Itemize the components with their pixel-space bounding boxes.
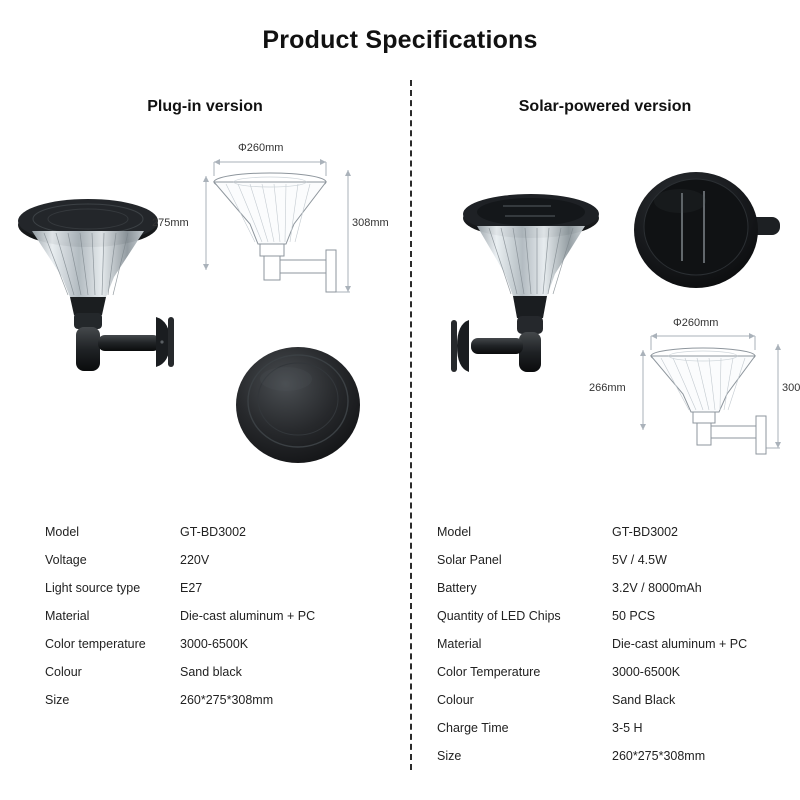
spec-row: Charge Time 3-5 H xyxy=(437,714,777,742)
spec-value: 5V / 4.5W xyxy=(612,553,777,567)
plug-in-top-view-photo xyxy=(228,335,368,475)
spec-row: Size 260*275*308mm xyxy=(437,742,777,770)
spec-row: Material Die-cast aluminum + PC xyxy=(45,602,375,630)
spec-value: 3000-6500K xyxy=(612,665,777,679)
spec-label: Solar Panel xyxy=(437,553,612,567)
solar-dimension-drawing: Φ260mm 266mm 300mm xyxy=(635,318,800,468)
spec-row: Solar Panel 5V / 4.5W xyxy=(437,546,777,574)
spec-row: Colour Sand black xyxy=(45,658,375,686)
spec-value: 220V xyxy=(180,553,375,567)
spec-row: Color Temperature 3000-6500K xyxy=(437,658,777,686)
spec-label: Colour xyxy=(437,693,612,707)
solar-height-left-label: 266mm xyxy=(589,382,626,394)
spec-label: Charge Time xyxy=(437,721,612,735)
spec-label: Light source type xyxy=(45,581,180,595)
spec-label: Material xyxy=(437,637,612,651)
plug-in-dimension-drawing: Φ260mm 275mm 308mm xyxy=(198,140,378,315)
spec-value: 260*275*308mm xyxy=(180,693,375,707)
spec-value: GT-BD3002 xyxy=(612,525,777,539)
solar-height-right-label: 300mm xyxy=(782,382,800,394)
column-solar-powered: Solar-powered version xyxy=(410,0,800,800)
spec-label: Color temperature xyxy=(45,637,180,651)
plug-in-lamp-photo xyxy=(10,185,210,385)
spec-row: Quantity of LED Chips 50 PCS xyxy=(437,602,777,630)
spec-value: Die-cast aluminum + PC xyxy=(612,637,777,651)
spec-row: Light source type E27 xyxy=(45,574,375,602)
spec-row: Voltage 220V xyxy=(45,546,375,574)
product-specification-page: Product Specifications Plug-in version xyxy=(0,0,800,800)
spec-row: Material Die-cast aluminum + PC xyxy=(437,630,777,658)
spec-value: E27 xyxy=(180,581,375,595)
plug-in-diameter-label: Φ260mm xyxy=(238,142,283,154)
column-title-solar: Solar-powered version xyxy=(410,98,800,116)
spec-value: 3-5 H xyxy=(612,721,777,735)
spec-label: Model xyxy=(45,525,180,539)
spec-row: Model GT-BD3002 xyxy=(45,518,375,546)
spec-label: Voltage xyxy=(45,553,180,567)
spec-row: Model GT-BD3002 xyxy=(437,518,777,546)
plug-in-height-right-label: 308mm xyxy=(352,217,389,229)
spec-value: 50 PCS xyxy=(612,609,777,623)
spec-value: GT-BD3002 xyxy=(180,525,375,539)
spec-label: Color Temperature xyxy=(437,665,612,679)
spec-label: Material xyxy=(45,609,180,623)
solar-panel-top-photo xyxy=(630,165,790,305)
spec-label: Size xyxy=(45,693,180,707)
solar-diameter-label: Φ260mm xyxy=(673,317,718,329)
spec-label: Colour xyxy=(45,665,180,679)
spec-label: Size xyxy=(437,749,612,763)
spec-value: Sand Black xyxy=(612,693,777,707)
spec-value: Sand black xyxy=(180,665,375,679)
spec-value: Die-cast aluminum + PC xyxy=(180,609,375,623)
solar-lamp-photo xyxy=(435,170,635,385)
spec-label: Quantity of LED Chips xyxy=(437,609,612,623)
spec-value: 260*275*308mm xyxy=(612,749,777,763)
spec-row: Color temperature 3000-6500K xyxy=(45,630,375,658)
spec-value: 3.2V / 8000mAh xyxy=(612,581,777,595)
spec-row: Size 260*275*308mm xyxy=(45,686,375,714)
column-plug-in: Plug-in version xyxy=(0,0,410,800)
spec-value: 3000-6500K xyxy=(180,637,375,651)
spec-table-plug-in: Model GT-BD3002 Voltage 220V Light sourc… xyxy=(45,518,375,714)
plug-in-height-left-label: 275mm xyxy=(152,217,189,229)
spec-row: Battery 3.2V / 8000mAh xyxy=(437,574,777,602)
spec-label: Battery xyxy=(437,581,612,595)
spec-table-solar: Model GT-BD3002 Solar Panel 5V / 4.5W Ba… xyxy=(437,518,777,770)
spec-label: Model xyxy=(437,525,612,539)
spec-row: Colour Sand Black xyxy=(437,686,777,714)
column-title-plug-in: Plug-in version xyxy=(0,98,410,116)
